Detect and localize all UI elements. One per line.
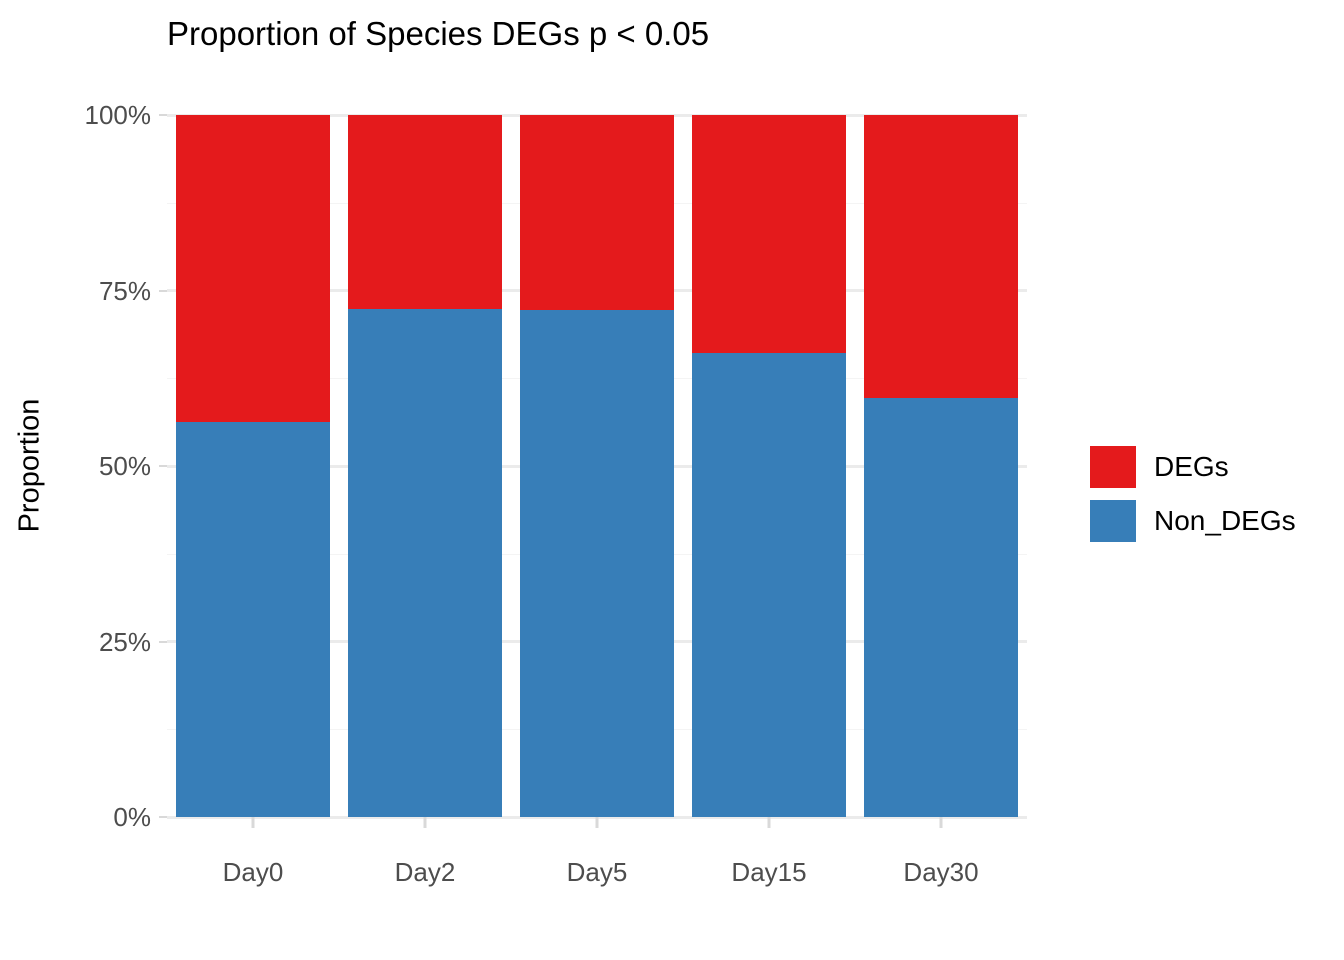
x-tick-mark [768,817,771,828]
x-axis-tick-labels: Day0Day2Day5Day15Day30 [167,817,1027,927]
bar-segment-non-degs[interactable] [864,398,1018,817]
legend-swatch-icon [1090,446,1136,488]
x-tick-label-day15: Day15 [731,859,806,885]
y-tick-mark [159,641,167,643]
y-tick-label: 25% [99,629,151,655]
x-tick-mark [424,817,427,828]
y-tick-mark [159,816,167,818]
y-tick-label: 0% [113,804,151,830]
y-axis-tick-labels: 0%25%50%75%100% [0,115,167,817]
bar-segment-degs[interactable] [864,115,1018,398]
chart-legend: DEGsNon_DEGs [1090,440,1330,548]
y-tick-mark [159,114,167,116]
x-tick-label-day30: Day30 [903,859,978,885]
y-tick-label: 75% [99,278,151,304]
plot-panel [167,115,1027,817]
bar-segment-degs[interactable] [348,115,502,309]
x-tick-label-day2: Day2 [395,859,456,885]
bar-segment-non-degs[interactable] [520,310,674,817]
y-tick-mark [159,290,167,292]
legend-item-degs[interactable]: DEGs [1090,440,1330,494]
bar-stack-day5[interactable] [520,115,674,817]
bar-stack-day15[interactable] [692,115,846,817]
legend-item-non_degs[interactable]: Non_DEGs [1090,494,1330,548]
bar-segment-degs[interactable] [176,115,330,422]
chart-title: Proportion of Species DEGs p < 0.05 [167,14,709,54]
x-tick-mark [252,817,255,828]
bar-segment-non-degs[interactable] [348,309,502,817]
x-tick-label-day5: Day5 [567,859,628,885]
bar-stack-day2[interactable] [348,115,502,817]
legend-swatch-icon [1090,500,1136,542]
bar-segment-non-degs[interactable] [176,422,330,817]
bar-segment-degs[interactable] [692,115,846,353]
x-tick-mark [596,817,599,828]
y-tick-mark [159,465,167,467]
bar-segment-non-degs[interactable] [692,353,846,817]
chart-figure: Proportion of Species DEGs p < 0.05 Prop… [0,0,1344,960]
legend-label: DEGs [1154,453,1229,481]
legend-label: Non_DEGs [1154,507,1296,535]
y-tick-label: 50% [99,453,151,479]
y-tick-label: 100% [85,102,152,128]
x-tick-mark [940,817,943,828]
bar-segment-degs[interactable] [520,115,674,310]
bar-stack-day0[interactable] [176,115,330,817]
x-tick-label-day0: Day0 [223,859,284,885]
bar-stack-day30[interactable] [864,115,1018,817]
